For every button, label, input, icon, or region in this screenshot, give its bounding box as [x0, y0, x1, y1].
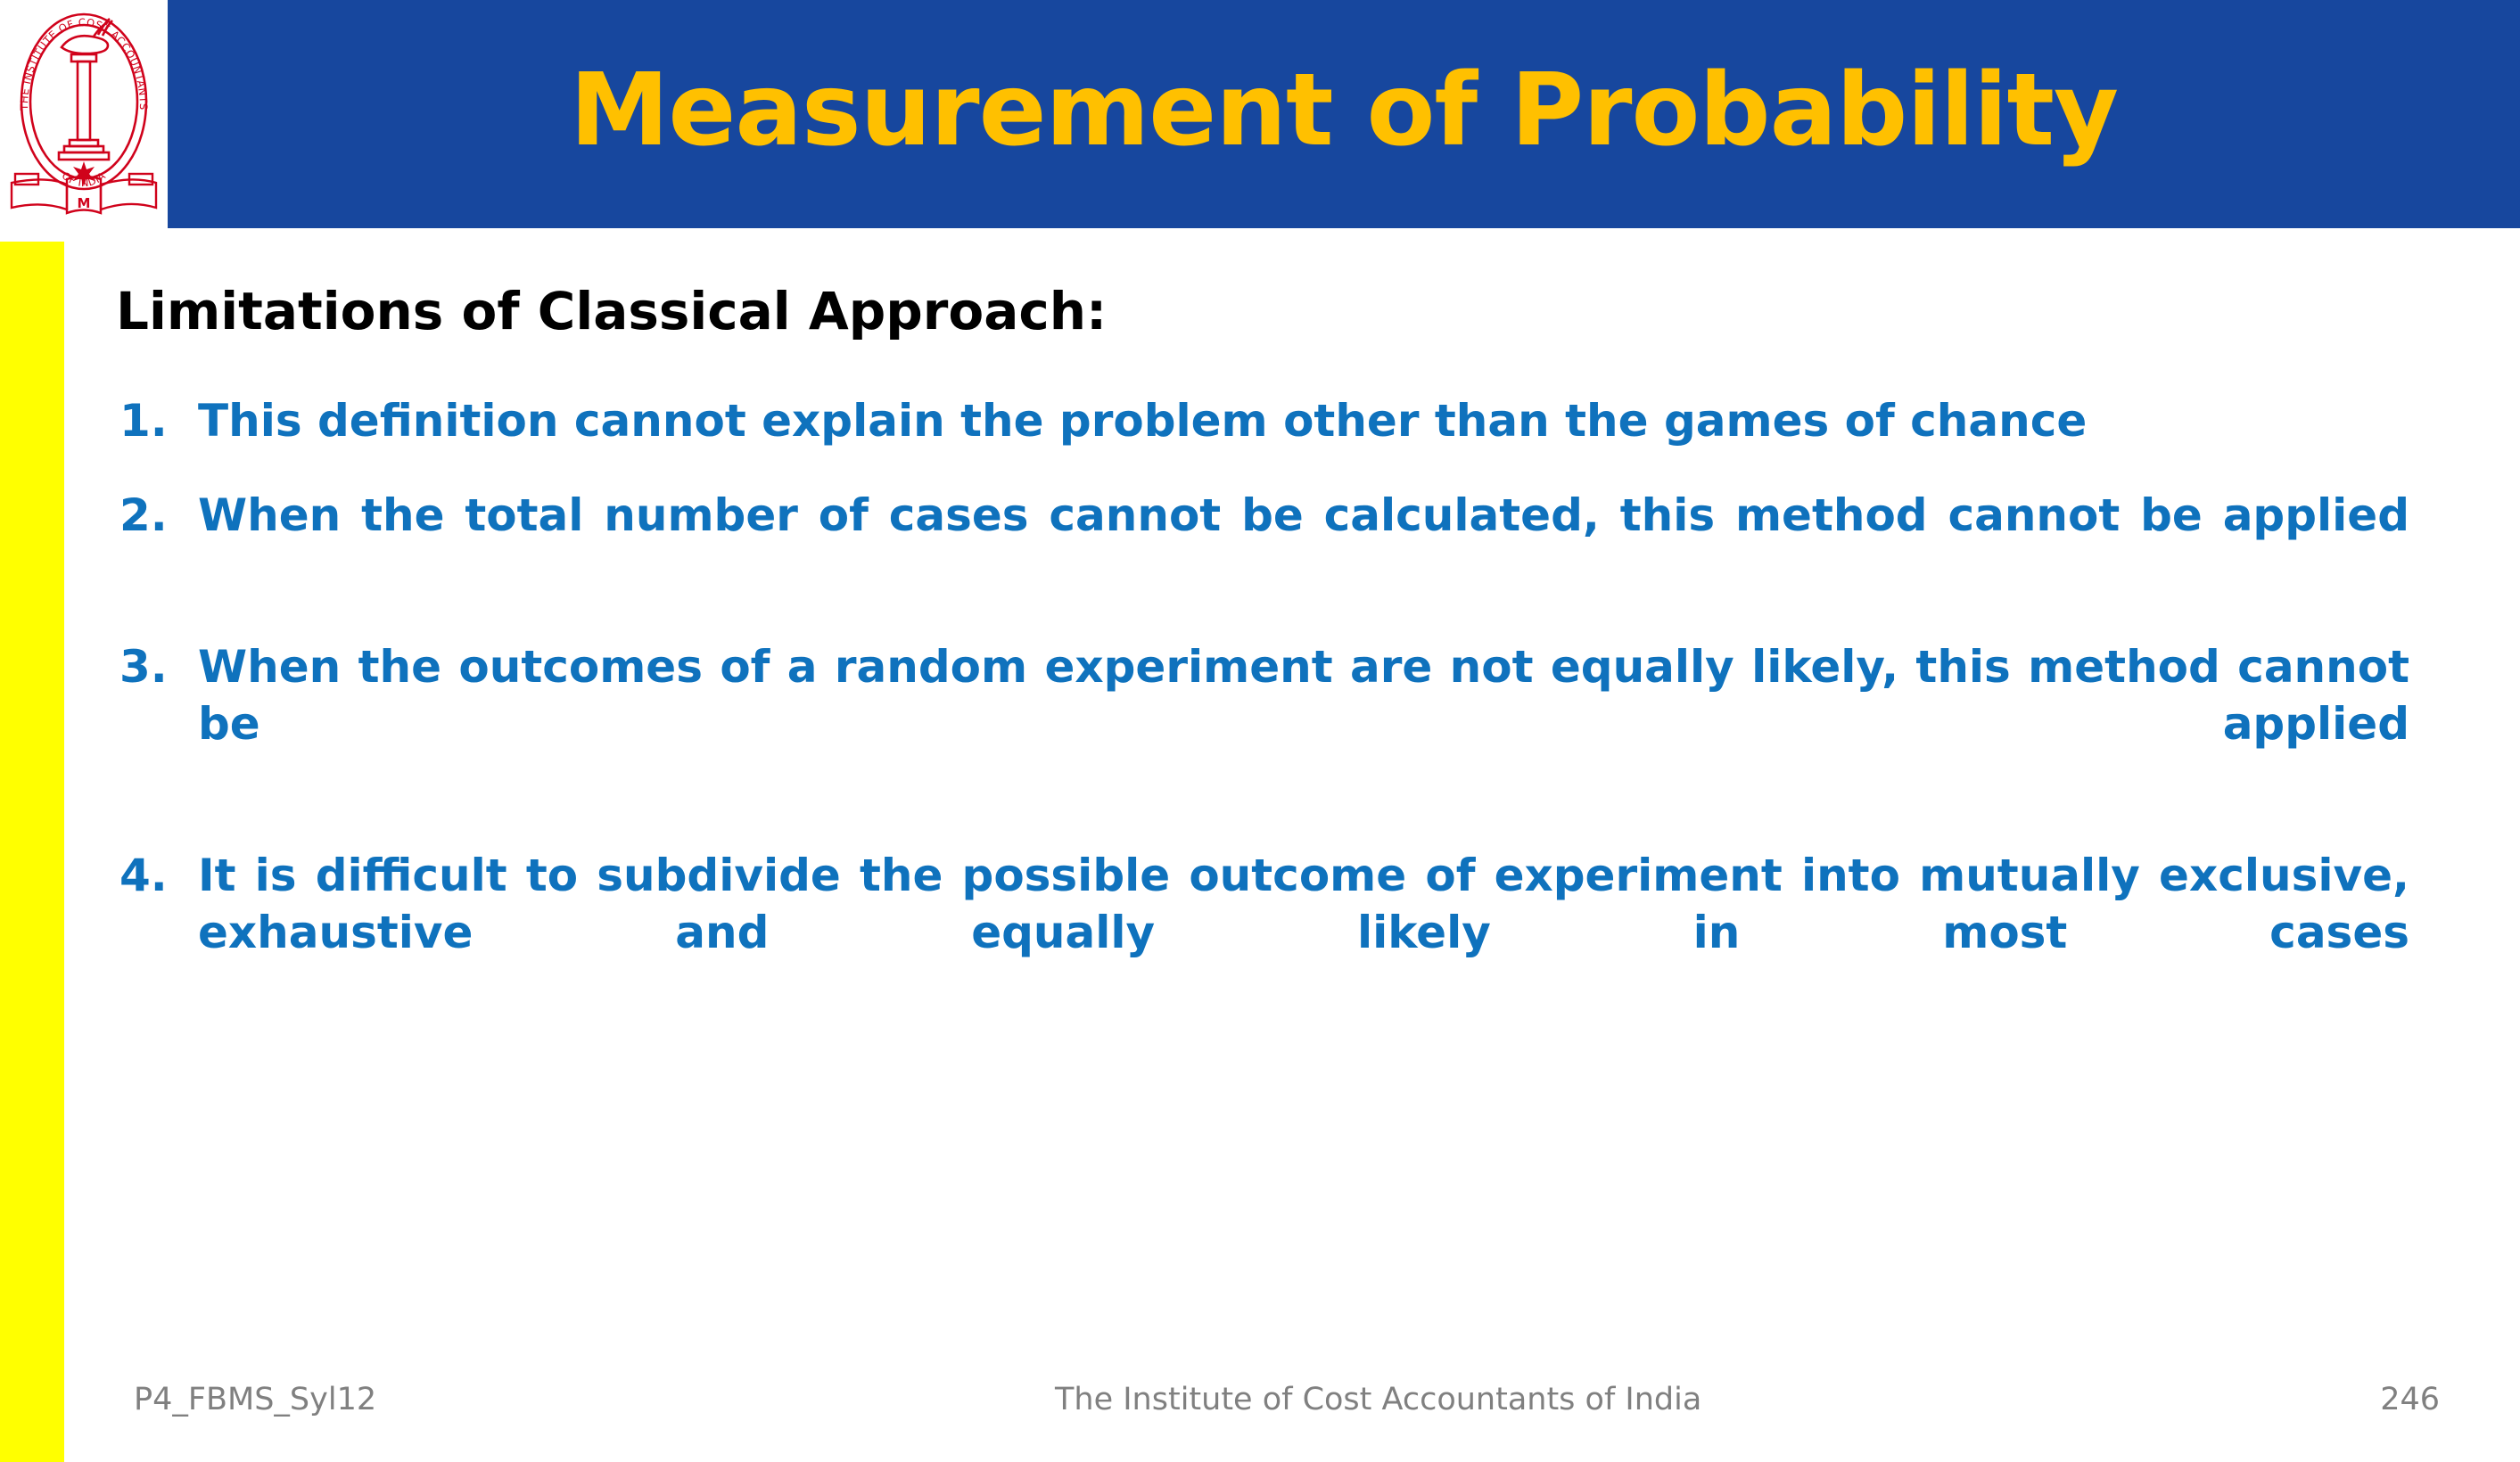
section-heading: Limitations of Classical Approach:: [116, 283, 2443, 341]
svg-text:M: M: [78, 195, 91, 211]
list-item: 4. It is difficult to subdivide the poss…: [116, 847, 2443, 1018]
list-item: 2. When the total number of cases cannot…: [116, 487, 2443, 601]
footer-institute-name: The Institute of Cost Accountants of Ind…: [376, 1384, 2380, 1416]
institute-emblem-icon: M THE INSTITUTE OF COST ACCOUNTANTS OF I…: [8, 8, 160, 231]
list-item-text: When the total number of cases cannot be…: [198, 487, 2443, 601]
left-accent-bar: [0, 242, 64, 1462]
list-item-number: 2.: [116, 487, 198, 544]
limitations-list: 1. This definition cannot explain the pr…: [116, 392, 2443, 1018]
list-item-text: It is difficult to subdivide the possibl…: [198, 847, 2443, 1018]
svg-text:THE INSTITUTE OF COST ACCOUNTA: THE INSTITUTE OF COST ACCOUNTANTS: [18, 16, 150, 111]
list-item-text: This definition cannot explain the probl…: [198, 392, 2443, 449]
list-item-number: 3.: [116, 638, 198, 695]
slide: Measurement of Probability: [0, 0, 2520, 1462]
list-item-text: When the outcomes of a random experiment…: [198, 638, 2443, 809]
list-item: 1. This definition cannot explain the pr…: [116, 392, 2443, 449]
footer-course-code: P4_FBMS_Syl12: [134, 1384, 376, 1416]
title-bar: Measurement of Probability: [168, 0, 2520, 228]
list-item: 3. When the outcomes of a random experim…: [116, 638, 2443, 809]
list-item-number: 4.: [116, 847, 198, 904]
slide-content: Limitations of Classical Approach: 1. Th…: [116, 283, 2443, 1055]
list-item-number: 1.: [116, 392, 198, 449]
page-title: Measurement of Probability: [534, 61, 2154, 160]
slide-footer: P4_FBMS_Syl12 The Institute of Cost Acco…: [134, 1384, 2440, 1416]
institute-logo: M THE INSTITUTE OF COST ACCOUNTANTS OF I…: [0, 0, 168, 239]
footer-page-number: 246: [2380, 1384, 2440, 1416]
